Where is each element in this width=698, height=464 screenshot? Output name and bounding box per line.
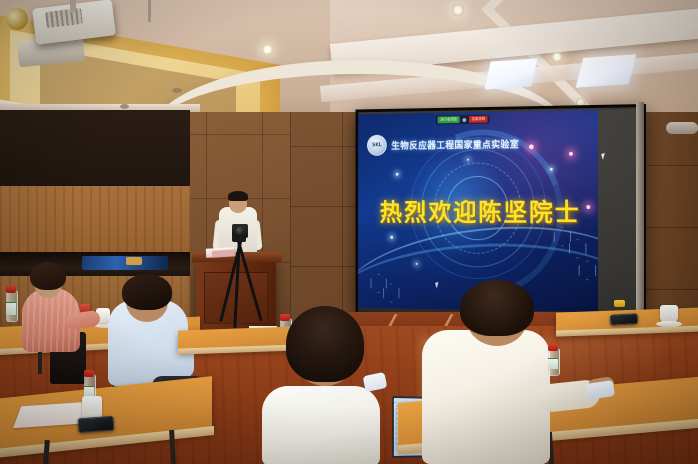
attendee-blue-shirt-hair [122, 274, 172, 310]
downlight-icon [452, 4, 464, 16]
saucer [656, 321, 682, 327]
lab-title-text: 生物反应器工程国家重点实验室 [391, 137, 519, 152]
attendee-white-shirt-hair [286, 306, 364, 382]
bottle-cap [280, 314, 290, 321]
camera-lens-icon [236, 227, 244, 235]
bottle-label [548, 358, 558, 369]
projector-mount-rod [148, 0, 151, 22]
smartphone [78, 416, 115, 433]
pointer-icon[interactable] [462, 118, 466, 122]
projector-lens-icon [6, 8, 28, 30]
slide-sparkle [550, 168, 553, 171]
yellow-object [614, 300, 625, 307]
downlight-icon [262, 44, 273, 55]
presentation-toolbar[interactable]: 演示者视图 结束放映 [436, 115, 490, 125]
bottle-cap [6, 286, 16, 293]
screen-right-frame-edge [636, 102, 644, 318]
slide-sparkle [467, 159, 469, 161]
air-vent-icon [666, 122, 698, 134]
lab-logo-icon: SKL [367, 135, 387, 156]
toolbar-presenter-view-button[interactable]: 演示者视图 [438, 116, 460, 123]
bottle-cap [84, 370, 94, 377]
slide-sparkle [416, 263, 418, 265]
slide-sparkle-pink [529, 144, 534, 149]
attendee-pink-blouse-hair [30, 262, 66, 290]
attendee-cream-shirt-torso [422, 330, 550, 464]
panel-light-icon [485, 58, 538, 89]
bottle-cap [548, 344, 558, 351]
attendee-cream-shirt-hair [460, 280, 534, 336]
slide-sparkle-pink [569, 152, 573, 156]
wall-strip-amber-reflection [126, 257, 142, 265]
wall-strip-reflection [82, 256, 168, 270]
slide-sparkle [396, 173, 399, 176]
remote-control [610, 313, 639, 325]
wall-upper-dark-band [0, 110, 190, 188]
toolbar-end-show-button[interactable]: 结束放映 [469, 116, 488, 123]
presentation-slide: SKL 生物反应器工程国家重点实验室 热烈欢迎陈坚院士 [358, 110, 598, 312]
projector-arm [70, 0, 76, 12]
downlight-icon [552, 52, 562, 62]
slide-headline: 热烈欢迎陈坚院士 [369, 193, 592, 229]
conference-room-photo: SKL 生物反应器工程国家重点实验室 热烈欢迎陈坚院士 演示者视图 结束放映 [0, 0, 698, 464]
ceiling-recess [172, 88, 182, 93]
screen-unlit-region [598, 109, 637, 313]
ceiling-recess [120, 104, 129, 109]
speaker-hair [228, 191, 248, 201]
slide-sparkle [390, 236, 393, 239]
attendee-white-shirt-torso [262, 386, 380, 464]
wall-wood-panel [0, 186, 190, 256]
panel-light-icon [576, 54, 637, 88]
bottle-label [6, 302, 16, 315]
slide-header: SKL 生物反应器工程国家重点实验室 [367, 133, 519, 156]
